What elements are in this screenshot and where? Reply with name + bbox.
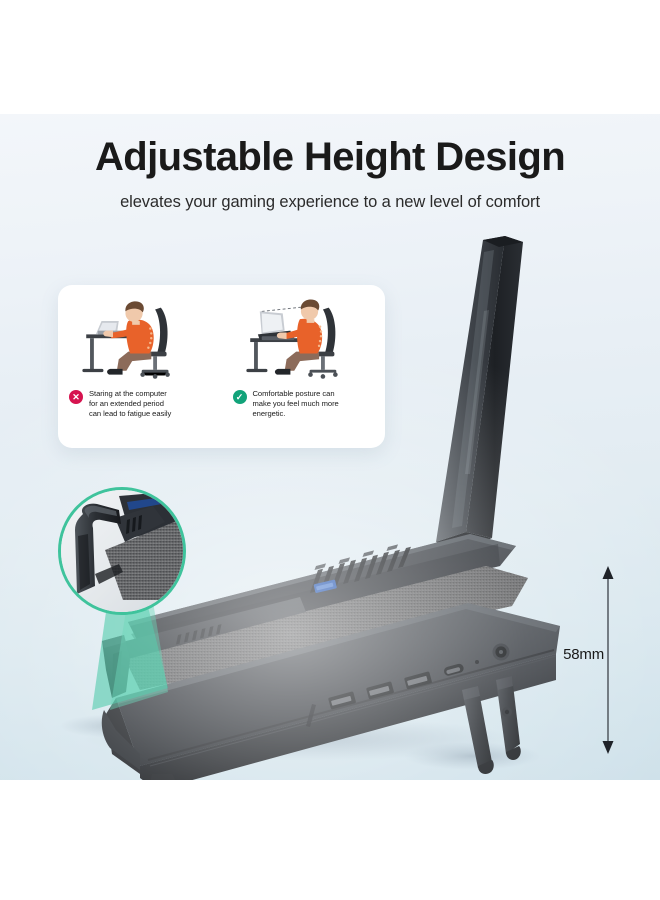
good-posture-illustration [233,294,377,392]
dimension-label: 58mm [556,646,604,663]
page-subtitle: elevates your gaming experience to a new… [0,179,660,212]
caption-bad: ✕ Staring at the computer for an extende… [69,389,216,419]
detail-magnifier-callout [58,487,186,615]
headings-block: Adjustable Height Design elevates your g… [0,0,660,212]
magnified-stand-hook-detail [61,490,186,615]
caption-good-text: Comfortable posture can make you feel mu… [253,389,339,419]
posture-comparison-card: ✕ Staring at the computer for an extende… [58,285,385,448]
bad-posture-illustration [69,294,213,392]
caption-bad-text: Staring at the computer for an extended … [89,389,171,419]
magnifier-lens [58,487,186,615]
page-title: Adjustable Height Design [0,0,660,179]
comparison-item-bad: ✕ Staring at the computer for an extende… [58,285,222,448]
cross-icon: ✕ [69,390,83,404]
check-icon: ✓ [233,390,247,404]
comparison-item-good: ✓ Comfortable posture can make you feel … [222,285,386,448]
caption-good: ✓ Comfortable posture can make you feel … [233,389,380,419]
height-dimension: 58mm [556,560,656,760]
